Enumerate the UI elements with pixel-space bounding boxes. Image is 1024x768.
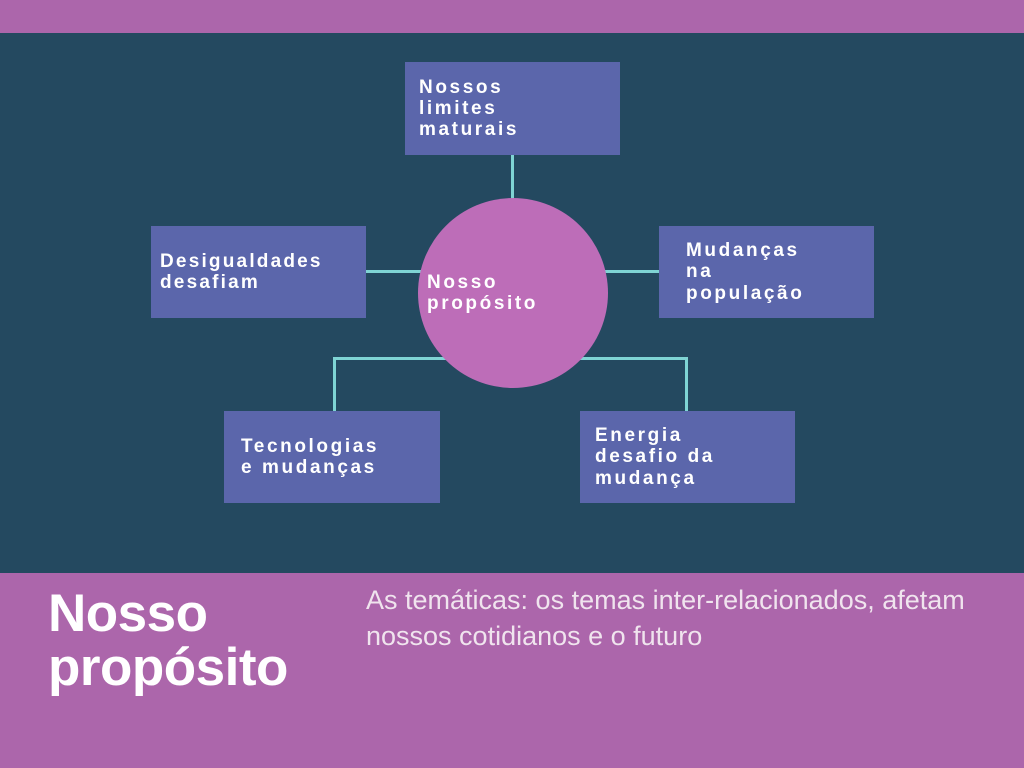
node-tecnologias-e-mudancas[interactable]: Tecnologias e mudanças [224, 411, 440, 503]
node-energia-desafio-da-mudanca[interactable]: Energia desafio da mudança [580, 411, 795, 503]
slide: Nossos limites maturais Desigualdades de… [0, 0, 1024, 768]
slide-subtitle: As temáticas: os temas inter-relacionado… [366, 583, 1011, 655]
top-accent-bar [0, 0, 1024, 33]
bottom-banner: Nosso propósito As temáticas: os temas i… [0, 573, 1024, 768]
node-label: Nossos limites maturais [405, 77, 620, 141]
node-mudancas-na-populacao[interactable]: Mudanças na população [659, 226, 874, 318]
center-node-label: Nosso propósito [418, 272, 542, 315]
node-label: Mudanças na população [659, 240, 874, 304]
concept-diagram: Nossos limites maturais Desigualdades de… [0, 33, 1024, 573]
node-nossos-limites-maturais[interactable]: Nossos limites maturais [405, 62, 620, 155]
slide-title: Nosso propósito [48, 587, 378, 695]
node-desigualdades-desafiam[interactable]: Desigualdades desafiam [151, 226, 366, 318]
node-label: Desigualdades desafiam [151, 251, 366, 294]
center-node-nosso-proposito[interactable]: Nosso propósito [418, 198, 608, 388]
node-label: Energia desafio da mudança [580, 425, 795, 489]
node-label: Tecnologias e mudanças [224, 436, 440, 479]
